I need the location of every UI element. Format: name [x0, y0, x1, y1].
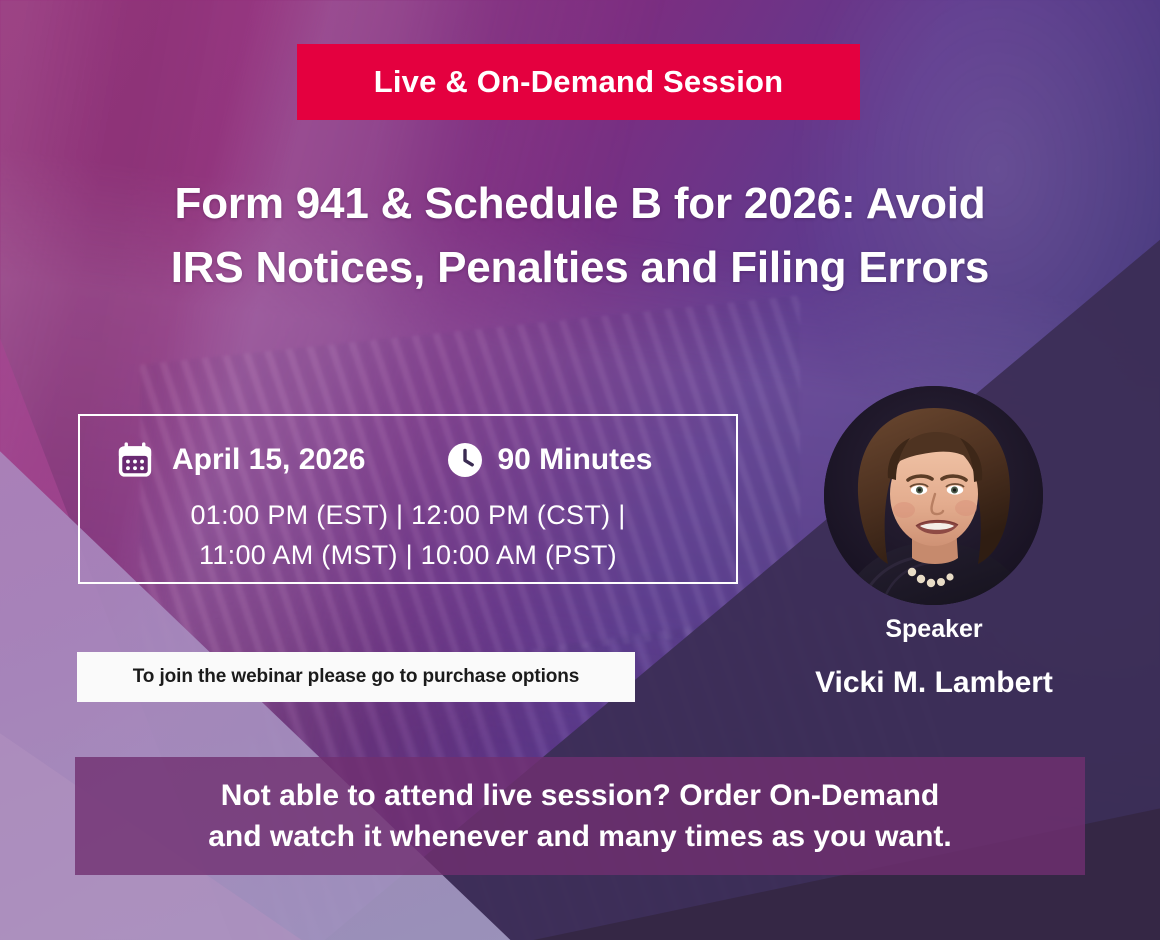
purchase-options-note[interactable]: To join the webinar please go to purchas…: [77, 652, 635, 702]
duration-group: 90 Minutes: [447, 442, 652, 478]
avatar: [824, 386, 1043, 605]
speaker-label: Speaker: [790, 615, 1078, 644]
on-demand-callout: Not able to attend live session? Order O…: [75, 757, 1085, 875]
schedule-primary-row: April 15, 2026 90 Minutes: [80, 432, 736, 488]
on-demand-callout-line-1: Not able to attend live session? Order O…: [221, 775, 939, 816]
session-date: April 15, 2026: [172, 443, 365, 477]
speaker-name: Vicki M. Lambert: [770, 666, 1098, 700]
page-title: Form 941 & Schedule B for 2026: Avoid IR…: [60, 172, 1100, 300]
session-times: 01:00 PM (EST) | 12:00 PM (CST) | 11:00 …: [80, 496, 736, 576]
page-title-line-2: IRS Notices, Penalties and Filing Errors: [60, 236, 1100, 300]
webinar-promo-banner: Live & On-Demand Session Form 941 & Sche…: [0, 0, 1160, 940]
session-type-badge: Live & On-Demand Session: [297, 44, 860, 120]
schedule-box: April 15, 2026 90 Minutes 01:00 PM (EST)…: [78, 414, 738, 584]
session-type-badge-label: Live & On-Demand Session: [374, 64, 784, 100]
session-times-line-2: 11:00 AM (MST) | 10:00 AM (PST): [80, 536, 736, 576]
session-times-line-1: 01:00 PM (EST) | 12:00 PM (CST) |: [80, 496, 736, 536]
purchase-options-note-label: To join the webinar please go to purchas…: [133, 666, 580, 688]
calendar-icon: [116, 441, 154, 479]
session-duration: 90 Minutes: [497, 443, 652, 477]
on-demand-callout-line-2: and watch it whenever and many times as …: [208, 816, 952, 857]
clock-icon: [447, 442, 483, 478]
page-title-line-1: Form 941 & Schedule B for 2026: Avoid: [60, 172, 1100, 236]
